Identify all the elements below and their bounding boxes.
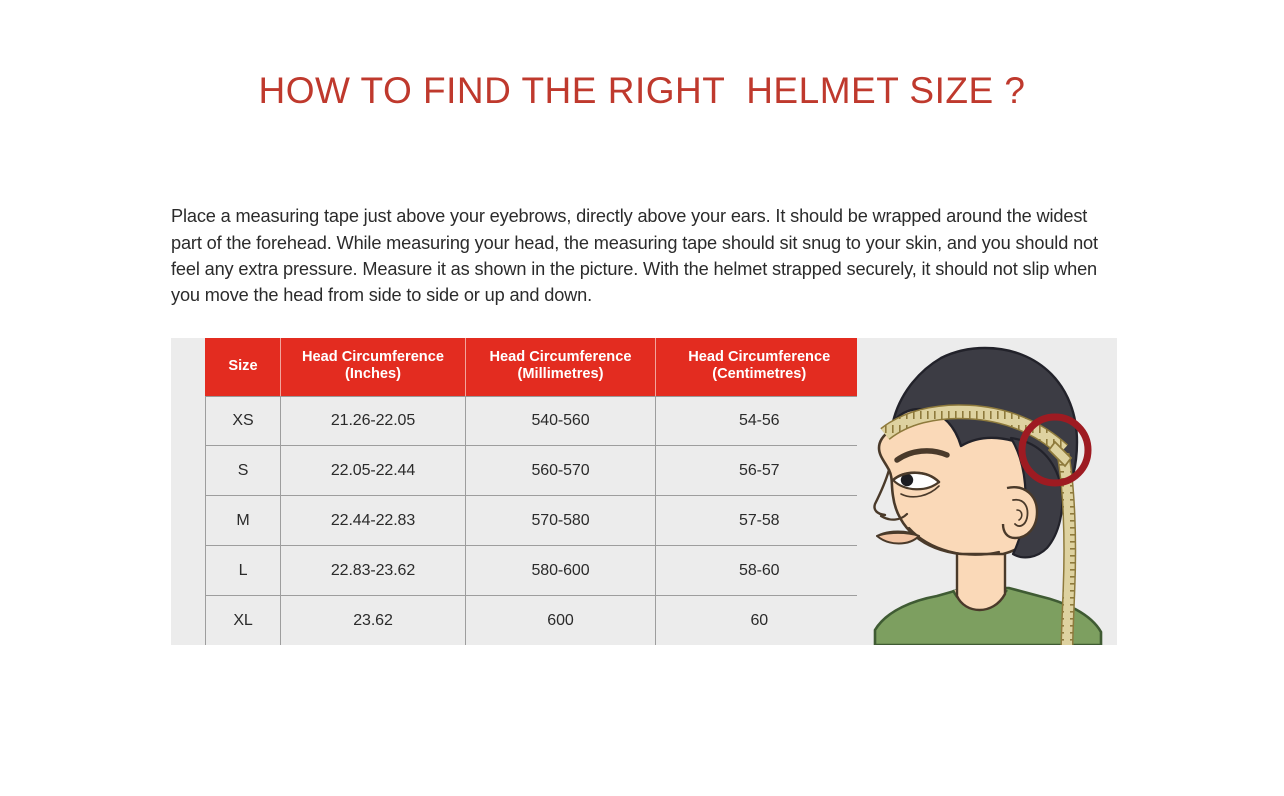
cell-millimetres: 580-600	[466, 546, 656, 596]
cell-inches: 22.83-23.62	[281, 546, 466, 596]
column-header-millimetres-line2: (Millimetres)	[518, 366, 604, 382]
cell-millimetres: 540-560	[466, 396, 656, 446]
cell-millimetres: 560-570	[466, 446, 656, 496]
cell-size: M	[206, 496, 281, 546]
intro-paragraph: Place a measuring tape just above your e…	[171, 203, 1119, 309]
column-header-centimetres: Head Circumference (Centimetres)	[656, 338, 863, 396]
column-header-size-line1: Size	[228, 358, 257, 374]
helmet-size-table: Size Head Circumference (Inches) Head Ci…	[205, 338, 863, 645]
table-row: M 22.44-22.83 570-580 57-58	[206, 496, 863, 546]
cell-size: XL	[206, 596, 281, 645]
column-header-millimetres-line1: Head Circumference	[490, 349, 632, 365]
cell-centimetres: 57-58	[656, 496, 863, 546]
table-row: XS 21.26-22.05 540-560 54-56	[206, 396, 863, 446]
column-header-inches-line1: Head Circumference	[302, 349, 444, 365]
cell-centimetres: 60	[656, 596, 863, 645]
cell-inches: 21.26-22.05	[281, 396, 466, 446]
cell-inches: 23.62	[281, 596, 466, 645]
cell-millimetres: 570-580	[466, 496, 656, 546]
cell-size: S	[206, 446, 281, 496]
column-header-inches-line2: (Inches)	[345, 366, 401, 382]
table-header-row: Size Head Circumference (Inches) Head Ci…	[206, 338, 863, 396]
size-chart-panel: Size Head Circumference (Inches) Head Ci…	[171, 338, 1117, 645]
cell-centimetres: 54-56	[656, 396, 863, 446]
cell-inches: 22.44-22.83	[281, 496, 466, 546]
column-header-millimetres: Head Circumference (Millimetres)	[466, 338, 656, 396]
cell-centimetres: 56-57	[656, 446, 863, 496]
cell-centimetres: 58-60	[656, 546, 863, 596]
table-row: XL 23.62 600 60	[206, 596, 863, 645]
table-row: S 22.05-22.44 560-570 56-57	[206, 446, 863, 496]
cell-inches: 22.05-22.44	[281, 446, 466, 496]
cell-size: L	[206, 546, 281, 596]
column-header-inches: Head Circumference (Inches)	[281, 338, 466, 396]
head-measurement-illustration	[857, 338, 1117, 645]
table-row: L 22.83-23.62 580-600 58-60	[206, 546, 863, 596]
cell-size: XS	[206, 396, 281, 446]
page-title: HOW TO FIND THE RIGHT HELMET SIZE ?	[0, 68, 1284, 114]
column-header-centimetres-line2: (Centimetres)	[712, 366, 806, 382]
column-header-centimetres-line1: Head Circumference	[688, 349, 830, 365]
column-header-size: Size	[206, 338, 281, 396]
cell-millimetres: 600	[466, 596, 656, 645]
